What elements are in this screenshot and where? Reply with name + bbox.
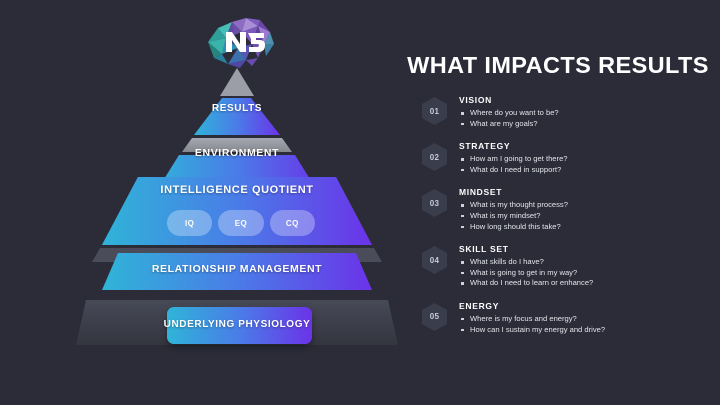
item-heading: MINDSET: [459, 187, 718, 197]
item-heading: STRATEGY: [459, 141, 718, 151]
item-number: 04: [422, 246, 447, 274]
item-heading: VISION: [459, 95, 718, 105]
page-title: WHAT IMPACTS RESULTS: [398, 52, 718, 79]
bullet: What is my mindset?: [459, 211, 718, 222]
hexagon-badge-icon: 03: [422, 189, 447, 217]
list-item: 02 STRATEGY How am I going to get there?…: [422, 140, 718, 175]
item-body: STRATEGY How am I going to get there? Wh…: [459, 140, 718, 175]
item-body: SKILL SET What skills do I have? What is…: [459, 243, 718, 289]
content-panel: WHAT IMPACTS RESULTS 01 VISION Where do …: [396, 0, 720, 405]
pill-cq[interactable]: CQ: [270, 210, 315, 236]
impact-list: 01 VISION Where do you want to be? What …: [422, 94, 718, 346]
bullet: What do I need in support?: [459, 165, 718, 176]
item-bullets: What skills do I have? What is going to …: [459, 257, 718, 289]
bullet: How long should this take?: [459, 222, 718, 233]
bullet: What is my thought process?: [459, 200, 718, 211]
item-number: 05: [422, 303, 447, 331]
bullet: How am I going to get there?: [459, 154, 718, 165]
item-heading: SKILL SET: [459, 244, 718, 254]
intelligence-pill-row: IQ EQ CQ: [167, 210, 315, 236]
list-item: 05 ENERGY Where is my focus and energy? …: [422, 300, 718, 335]
item-body: MINDSET What is my thought process? What…: [459, 186, 718, 232]
bullet: What do I need to learn or enhance?: [459, 278, 718, 289]
list-item: 04 SKILL SET What skills do I have? What…: [422, 243, 718, 289]
list-item: 01 VISION Where do you want to be? What …: [422, 94, 718, 129]
bullet: What skills do I have?: [459, 257, 718, 268]
list-item: 03 MINDSET What is my thought process? W…: [422, 186, 718, 232]
pill-iq[interactable]: IQ: [167, 210, 212, 236]
item-bullets: What is my thought process? What is my m…: [459, 200, 718, 232]
item-heading: ENERGY: [459, 301, 718, 311]
bullet: What is going to get in my way?: [459, 268, 718, 279]
bullet: How can I sustain my energy and drive?: [459, 325, 718, 336]
hexagon-badge-icon: 04: [422, 246, 447, 274]
item-bullets: How am I going to get there? What do I n…: [459, 154, 718, 175]
bullet: Where is my focus and energy?: [459, 314, 718, 325]
item-body: VISION Where do you want to be? What are…: [459, 94, 718, 129]
bullet: Where do you want to be?: [459, 108, 718, 119]
item-bullets: Where is my focus and energy? How can I …: [459, 314, 718, 335]
item-bullets: Where do you want to be? What are my goa…: [459, 108, 718, 129]
hexagon-badge-icon: 02: [422, 143, 447, 171]
pill-eq[interactable]: EQ: [218, 210, 263, 236]
item-number: 03: [422, 189, 447, 217]
hexagon-badge-icon: 05: [422, 303, 447, 331]
hexagon-badge-icon: 01: [422, 97, 447, 125]
item-number: 02: [422, 143, 447, 171]
pyramid-diagram: IQ EQ CQ: [0, 0, 400, 405]
item-number: 01: [422, 97, 447, 125]
item-body: ENERGY Where is my focus and energy? How…: [459, 300, 718, 335]
bullet: What are my goals?: [459, 119, 718, 130]
slide-root: IQ EQ CQ RESULTS ENVIRONMENT INTELLIGENC…: [0, 0, 720, 405]
